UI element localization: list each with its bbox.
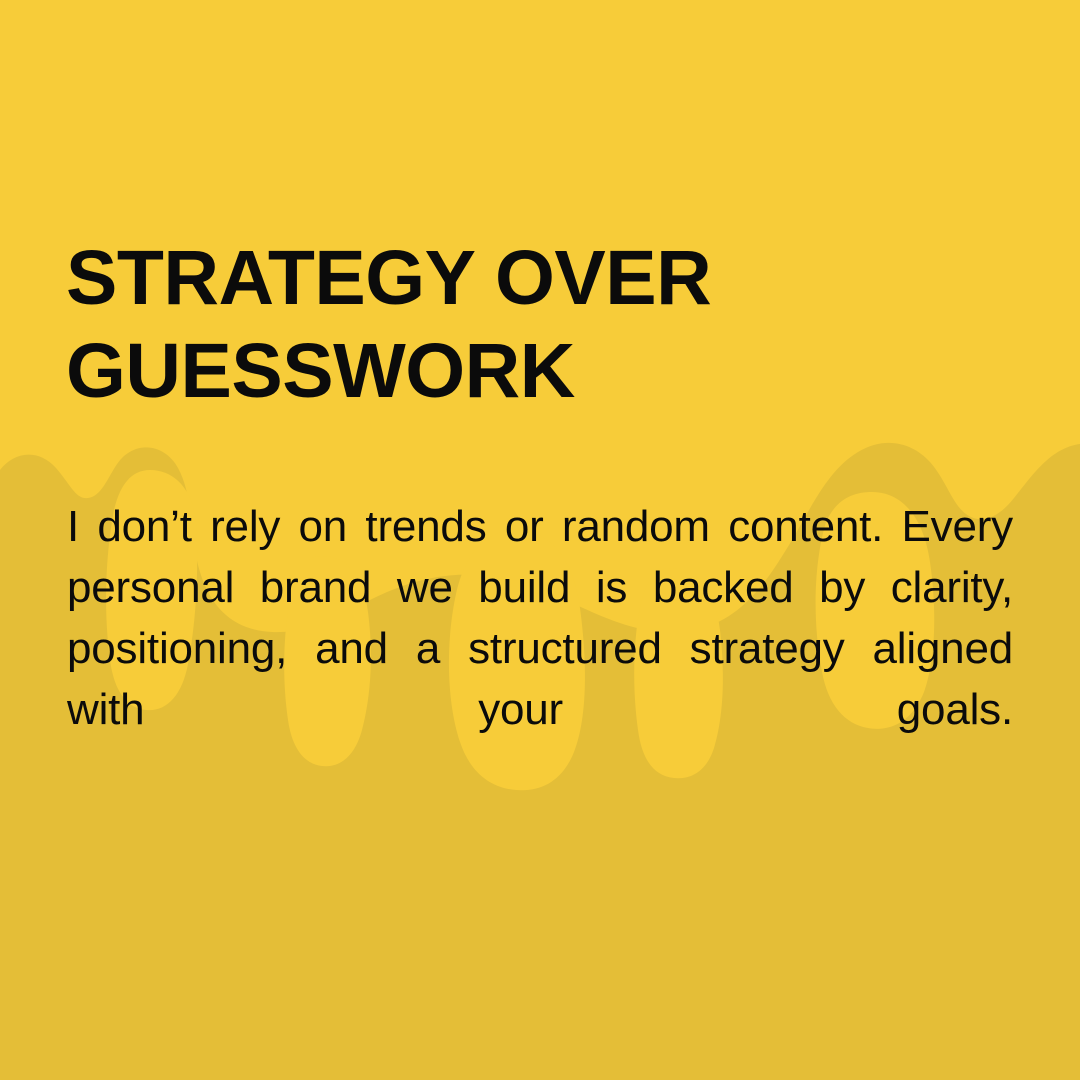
page-title: STRATEGY OVER GUESSWORK bbox=[66, 232, 966, 418]
content-layer: STRATEGY OVER GUESSWORK I don’t rely on … bbox=[0, 0, 1080, 1080]
body-paragraph: I don’t rely on trends or random content… bbox=[67, 496, 1013, 801]
poster-canvas: STRATEGY OVER GUESSWORK I don’t rely on … bbox=[0, 0, 1080, 1080]
